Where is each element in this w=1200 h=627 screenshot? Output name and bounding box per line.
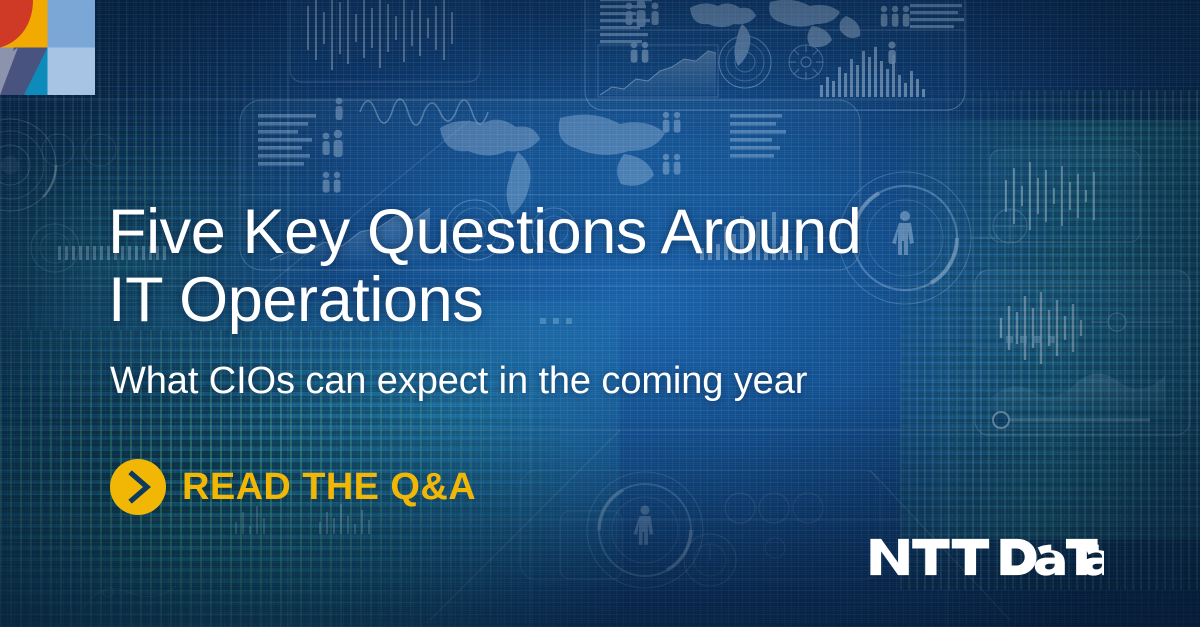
marketing-banner: Five Key Questions Around IT Operations … bbox=[0, 0, 1200, 627]
cta-label: READ THE Q&A bbox=[182, 464, 476, 510]
chevron-right-circle-icon bbox=[110, 459, 166, 515]
banner-content: Five Key Questions Around IT Operations … bbox=[0, 0, 1200, 627]
read-the-qa-cta[interactable]: READ THE Q&A bbox=[110, 459, 476, 515]
ntt-data-wordmark bbox=[867, 531, 1104, 583]
page-subtitle: What CIOs can expect in the coming year bbox=[110, 358, 807, 404]
ntt-data-logo bbox=[867, 531, 1104, 583]
page-title: Five Key Questions Around IT Operations bbox=[108, 198, 861, 334]
